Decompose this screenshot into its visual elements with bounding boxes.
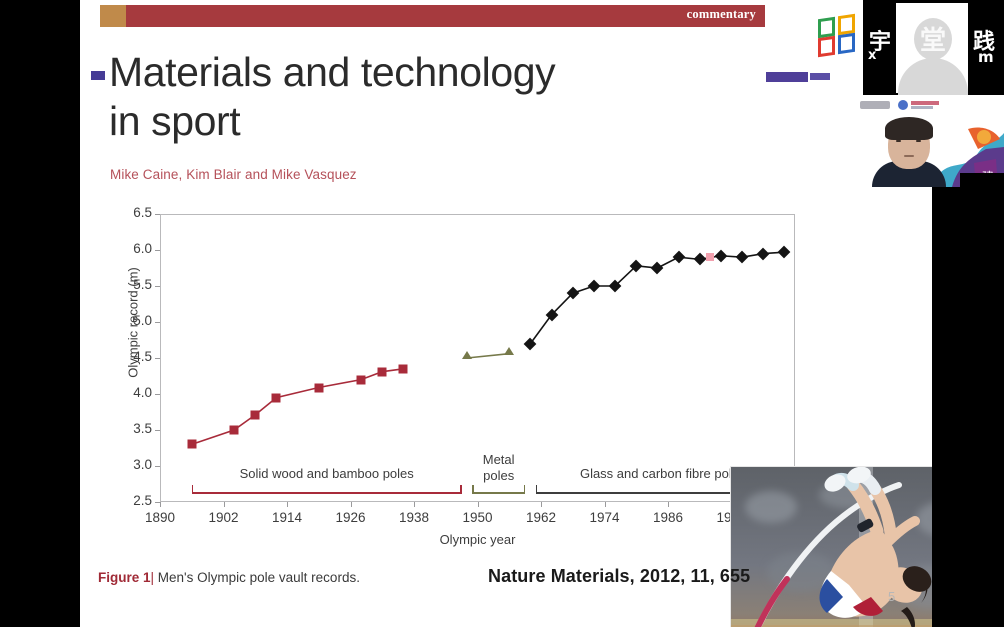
tile1-watermark: 堂 — [920, 20, 946, 57]
bracket-solid-wood: Solid wood and bamboo poles — [192, 482, 462, 494]
tile2-speaker-hair — [885, 117, 933, 140]
title-line-2: in sport — [109, 97, 709, 146]
figure-separator: | — [151, 570, 155, 585]
data-point-marker — [251, 410, 260, 419]
authors-line: Mike Caine, Kim Blair and Mike Vasquez — [110, 167, 357, 182]
tile2-org-mark-left — [860, 101, 890, 109]
tile2-bottom-bar — [960, 173, 1004, 187]
data-point-marker — [504, 347, 514, 355]
slide-page-number: 5 — [888, 589, 895, 604]
tile2-org-mark-right2 — [911, 106, 933, 109]
bracket-label-metal: Metal poles — [472, 452, 525, 484]
logo-square-yellow — [838, 14, 855, 35]
journal-section-label: commentary — [687, 7, 756, 22]
slide-canvas: commentary Materials and technology in s… — [80, 0, 932, 627]
tile2-speaker-mouth — [904, 155, 914, 157]
tile2-org-mark-dot — [898, 100, 908, 110]
highlighted-data-point — [706, 253, 714, 261]
video-tile-speaker[interactable]: 建 — [810, 95, 1004, 187]
tile2-speaker-eye-left — [896, 140, 901, 142]
data-point-marker — [314, 383, 323, 392]
title-line-1: Materials and technology — [109, 49, 555, 95]
tile1-subtext-left: x — [868, 48, 876, 63]
screen-root: commentary Materials and technology in s… — [0, 0, 1004, 627]
pole-vault-illustration — [731, 467, 932, 627]
citation-text: Nature Materials, 2012, 11, 655 — [488, 566, 750, 587]
title-accent-dash — [766, 72, 808, 82]
data-point-marker — [230, 426, 239, 435]
logo-square-green — [818, 17, 835, 38]
figure-caption: Figure 1| Men's Olympic pole vault recor… — [98, 570, 360, 585]
x-axis-label: Olympic year — [80, 532, 875, 547]
journal-header-bar: commentary — [100, 5, 765, 27]
logo-square-red — [818, 36, 835, 57]
data-point-marker — [462, 351, 472, 359]
bracket-metal-poles: Metal poles — [472, 482, 525, 494]
page-title: Materials and technology in sport — [109, 48, 709, 146]
title-bullet-marker — [91, 71, 105, 80]
figure-caption-text: Men's Olympic pole vault records. — [158, 570, 360, 585]
data-point-marker — [357, 375, 366, 384]
logo-square-blue — [838, 33, 855, 54]
figure-label: Figure 1 — [98, 570, 151, 585]
tile2-org-mark-right — [911, 101, 939, 105]
data-point-marker — [399, 364, 408, 373]
data-point-marker — [272, 393, 281, 402]
tile1-accent-dash — [810, 73, 830, 80]
tile2-speaker-eye-right — [916, 140, 921, 142]
video-tile-presentation[interactable]: 宇 践 x m 堂 — [810, 0, 1004, 95]
data-point-marker — [187, 440, 196, 449]
pole-vault-chart: Olympic record (m) 2.53.03.54.04.55.05.5… — [80, 195, 932, 560]
journal-header-accent-block — [100, 5, 126, 27]
data-point-marker — [378, 367, 387, 376]
bracket-label-wood: Solid wood and bamboo poles — [192, 466, 462, 482]
tile1-subtext-right: m — [978, 48, 994, 66]
